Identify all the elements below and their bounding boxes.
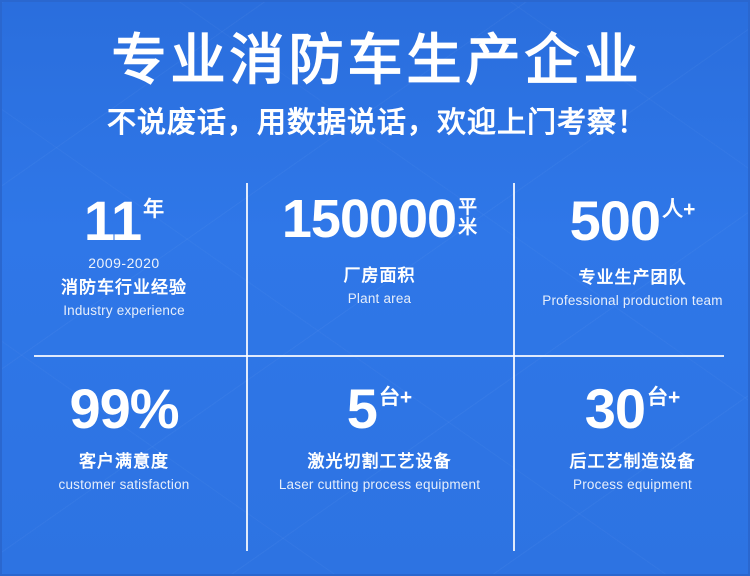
stat-label-cn: 厂房面积 [344, 267, 416, 286]
stat-label-en: Laser cutting process equipment [279, 478, 480, 493]
stat-number: 30 [585, 382, 645, 435]
stat-label-en: Professional production team [542, 294, 722, 309]
stat-label-cn: 消防车行业经验 [61, 279, 187, 298]
stat-value-row: 150000 平 米 [282, 194, 477, 245]
stat-number: 150000 [282, 194, 456, 245]
stat-number: 99% [69, 382, 178, 435]
stat-unit: 台+ [647, 382, 680, 408]
stat-value-row: 99% [69, 382, 178, 435]
stat-label-cn: 激光切割工艺设备 [308, 453, 452, 472]
stat-label-en: Industry experience [63, 304, 185, 319]
stat-cell-customer-satisfaction: 99% 客户满意度 customer satisfaction [2, 356, 246, 552]
stat-value-row: 500 人+ [570, 194, 696, 247]
promo-banner: 专业消防车生产企业 不说废话，用数据说话，欢迎上门考察！ 11 年 2009-2… [0, 0, 750, 576]
stat-range: 2009-2020 [88, 256, 159, 270]
stat-unit-line-2: 米 [458, 218, 477, 238]
stat-label-en: Plant area [348, 292, 412, 307]
banner-header: 专业消防车生产企业 不说废话，用数据说话，欢迎上门考察！ [2, 2, 750, 140]
headline: 专业消防车生产企业 [2, 2, 750, 92]
stat-value-row: 5 台+ [347, 382, 412, 435]
stat-number: 5 [347, 382, 377, 435]
stat-cell-plant-area: 150000 平 米 厂房面积 Plant area [246, 180, 513, 356]
stat-label-cn: 后工艺制造设备 [570, 453, 696, 472]
stat-label-cn: 客户满意度 [79, 453, 169, 472]
stat-cell-production-team: 500 人+ 专业生产团队 Professional production te… [513, 180, 750, 356]
stat-label-en: Process equipment [573, 478, 692, 493]
stat-unit-line-1: 平 [458, 198, 477, 218]
stat-label-cn: 专业生产团队 [579, 269, 687, 288]
subheadline: 不说废话，用数据说话，欢迎上门考察！ [2, 92, 750, 141]
stat-cell-industry-experience: 11 年 2009-2020 消防车行业经验 Industry experien… [2, 180, 246, 356]
stat-value-row: 30 台+ [585, 382, 681, 435]
stat-value-row: 11 年 [84, 194, 164, 247]
stat-unit: 台+ [379, 382, 412, 408]
stat-unit: 年 [143, 194, 164, 220]
stat-label-en: customer satisfaction [59, 478, 190, 493]
stats-grid: 11 年 2009-2020 消防车行业经验 Industry experien… [2, 180, 750, 552]
stat-unit: 人+ [662, 194, 695, 220]
stat-number: 11 [84, 194, 141, 247]
stat-unit: 平 米 [458, 194, 477, 238]
stat-cell-process-equipment: 30 台+ 后工艺制造设备 Process equipment [513, 356, 750, 552]
stat-cell-laser-cutting-equipment: 5 台+ 激光切割工艺设备 Laser cutting process equi… [246, 356, 513, 552]
stat-number: 500 [570, 194, 660, 247]
